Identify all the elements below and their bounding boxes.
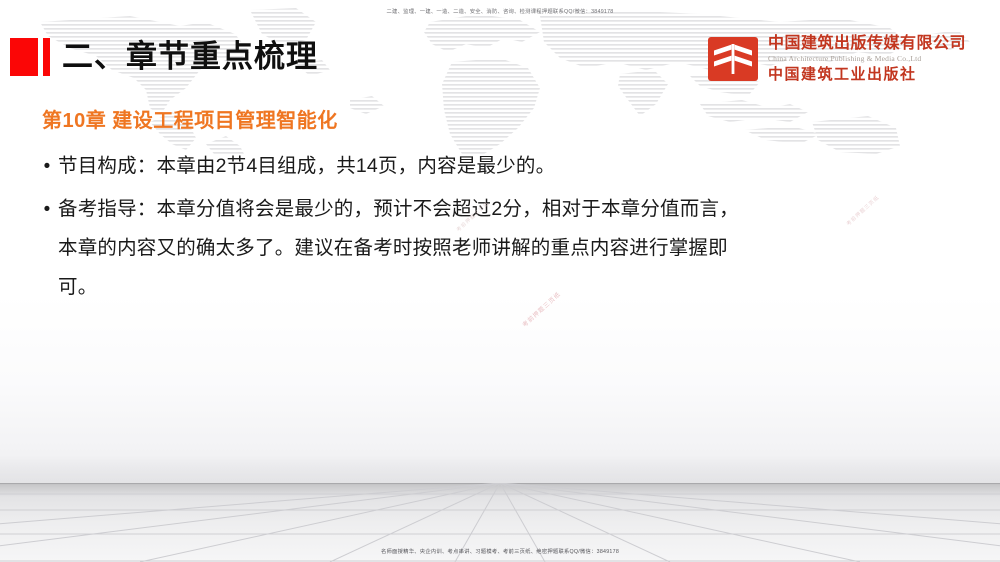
logo-press-cn: 中国建筑工业出版社 <box>768 67 966 82</box>
horizon-haze <box>0 455 1000 485</box>
slide-content: 第10章 建设工程项目管理智能化 • 节目构成：本章由2节4目组成，共14页，内… <box>0 104 1000 311</box>
bottom-marquee-text: 名师面授精华、央企内训、考点串讲、习题模考、考前三页纸、绝密押题联系QQ/微信：… <box>0 547 1000 555</box>
presentation-slide: 二、章节重点梳理 中国建筑出 <box>0 0 1000 562</box>
bullet-line: 节目构成：本章由2节4目组成，共14页，内容是最少的。 <box>58 147 555 186</box>
bullet-marker: • <box>36 147 58 186</box>
title-accent-block <box>10 38 38 76</box>
logo-company-en: China Architecture Publishing & Media Co… <box>768 55 966 63</box>
bullet-item: • 备考指导：本章分值将会是最少的，预计不会超过2分，相对于本章分值而言， 本章… <box>36 190 960 307</box>
bullet-text: 节目构成：本章由2节4目组成，共14页，内容是最少的。 <box>58 147 555 186</box>
logo-company-cn: 中国建筑出版传媒有限公司 <box>768 36 966 52</box>
bullet-line: 备考指导：本章分值将会是最少的，预计不会超过2分，相对于本章分值而言， <box>58 190 739 229</box>
bullet-line: 可。 <box>58 268 739 307</box>
bullet-marker: • <box>36 190 58 229</box>
bullet-item: • 节目构成：本章由2节4目组成，共14页，内容是最少的。 <box>36 147 960 186</box>
title-accent-bar <box>43 38 50 76</box>
publisher-logo: 中国建筑出版传媒有限公司 China Architecture Publishi… <box>708 33 966 85</box>
page-title: 二、章节重点梳理 <box>62 36 318 78</box>
chapter-heading: 第10章 建设工程项目管理智能化 <box>42 104 1000 133</box>
open-book-icon <box>708 37 758 81</box>
top-marquee-text: 二建、监理、一建、一造、二造、安全、消防、咨询、检测课程押题联系QQ/微信：38… <box>0 7 1000 15</box>
bullet-text: 备考指导：本章分值将会是最少的，预计不会超过2分，相对于本章分值而言， 本章的内… <box>58 190 739 307</box>
bullet-line: 本章的内容又的确太多了。建议在备考时按照老师讲解的重点内容进行掌握即 <box>58 229 739 268</box>
